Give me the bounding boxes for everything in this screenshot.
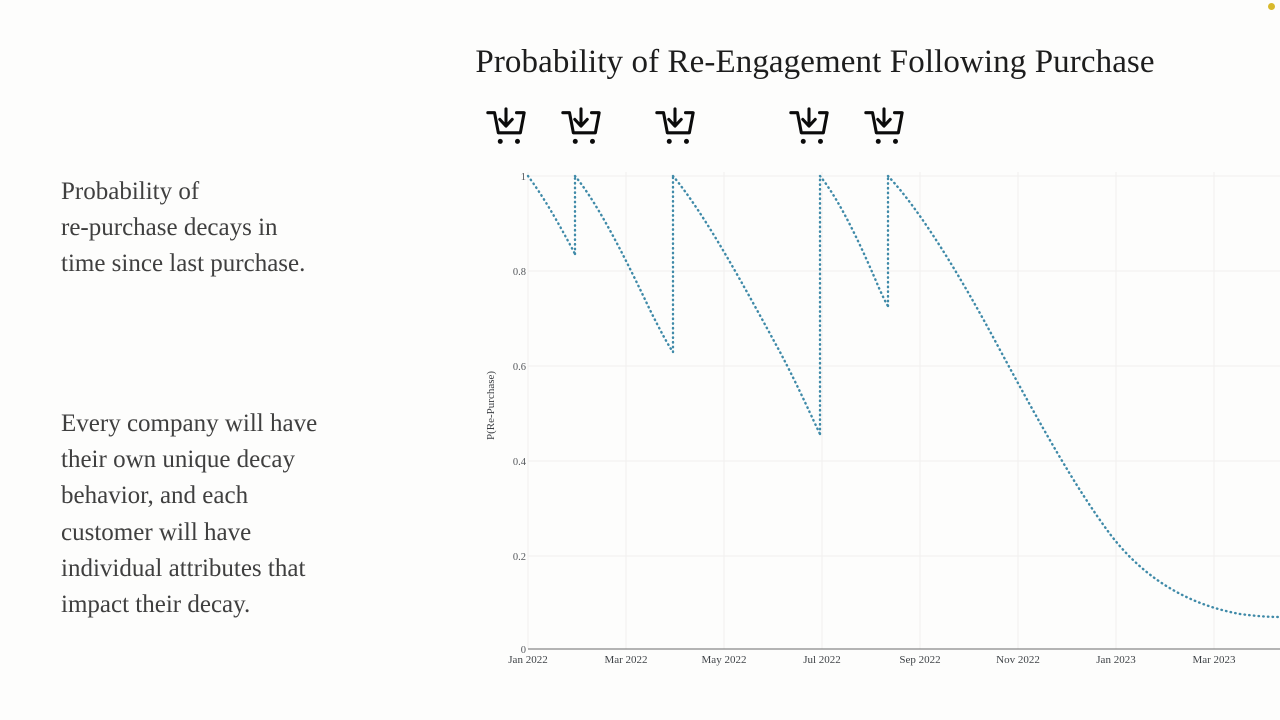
repurchase-decay-series [528, 176, 1280, 617]
add-to-cart-icon-4[interactable] [786, 106, 832, 150]
svg-text:Mar 2022: Mar 2022 [604, 654, 647, 666]
svg-text:0.2: 0.2 [513, 552, 526, 563]
svg-text:Jan 2023: Jan 2023 [1096, 654, 1136, 666]
add-to-cart-icon-2[interactable] [558, 106, 604, 150]
add-to-cart-icon-3[interactable] [652, 106, 698, 150]
svg-text:0.6: 0.6 [513, 362, 526, 373]
svg-text:Jul 2022: Jul 2022 [803, 654, 841, 666]
y-axis-tick-labels: 1 0.8 0.6 0.4 0.2 0 [513, 172, 527, 656]
add-to-cart-icon-5[interactable] [861, 106, 907, 150]
svg-text:Nov 2022: Nov 2022 [996, 654, 1040, 666]
svg-text:0.8: 0.8 [513, 267, 526, 278]
vertical-gridlines [528, 172, 1214, 649]
svg-text:1: 1 [521, 172, 526, 183]
horizontal-gridlines [528, 176, 1280, 556]
chart-svg: 1 0.8 0.6 0.4 0.2 0 P(Re-Purchase) Jan 2… [0, 0, 1280, 720]
svg-text:Mar 2023: Mar 2023 [1192, 654, 1236, 666]
repurchase-probability-chart: 1 0.8 0.6 0.4 0.2 0 P(Re-Purchase) Jan 2… [0, 0, 1280, 720]
x-axis-tick-labels: Jan 2022 Mar 2022 May 2022 Jul 2022 Sep … [508, 654, 1236, 666]
svg-text:Jan 2022: Jan 2022 [508, 654, 547, 666]
svg-text:May 2022: May 2022 [702, 654, 747, 666]
svg-text:0.4: 0.4 [513, 457, 527, 468]
svg-text:Sep 2022: Sep 2022 [899, 654, 940, 666]
add-to-cart-icon-1[interactable] [483, 106, 529, 150]
y-axis-title: P(Re-Purchase) [485, 371, 497, 440]
slide-canvas: Probability of Re-Engagement Following P… [0, 0, 1280, 720]
